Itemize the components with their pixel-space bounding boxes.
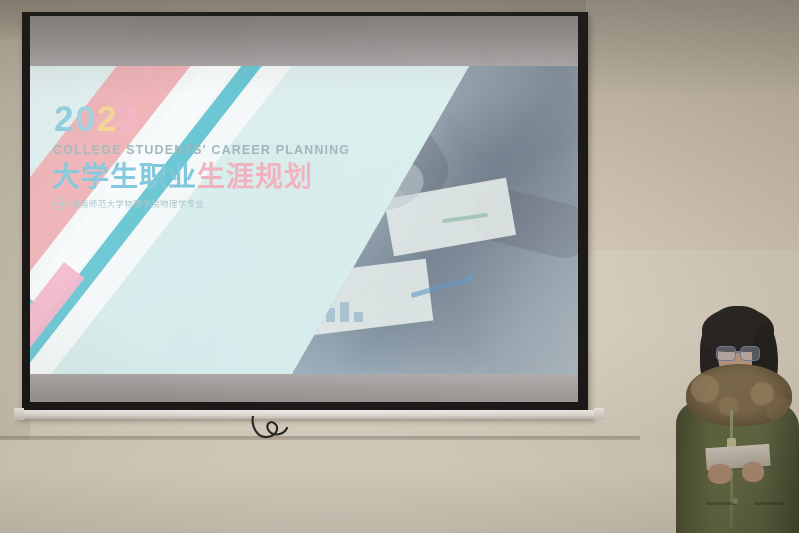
slide-organization-name: 河南师范大学物理学院物理学专业 xyxy=(71,198,205,210)
presenter-hand-right xyxy=(742,462,764,482)
presenter-coat-button xyxy=(732,498,738,504)
presenter-fur-hood xyxy=(686,364,792,426)
projection-letterbox-bottom xyxy=(30,374,578,402)
wall-shadow-upper-right xyxy=(586,0,799,250)
slide-year-digit: 0 xyxy=(75,102,96,137)
hanging-power-cable xyxy=(247,416,293,442)
presenter-coat-pocket-right xyxy=(754,502,784,505)
screen-rail-end-cap-right xyxy=(594,408,604,420)
presenter-fur-texture xyxy=(686,364,792,426)
presenter-hand-left xyxy=(708,464,732,484)
slide-subtitle-english: COLLEGE STUDENTS' CAREER PLANNING xyxy=(53,143,382,157)
presentation-slide: 2023 COLLEGE STUDENTS' CAREER PLANNING 大… xyxy=(30,66,578,374)
lecture-room-scene: 2023 COLLEGE STUDENTS' CAREER PLANNING 大… xyxy=(0,0,799,533)
projector-screen-assembly: 2023 COLLEGE STUDENTS' CAREER PLANNING 大… xyxy=(22,12,592,432)
slide-title-chinese: 大学生职业生涯规划 xyxy=(52,162,382,191)
slide-title-chinese-part1: 大学生职业 xyxy=(52,161,197,192)
university-emblem-icon xyxy=(54,197,67,210)
slide-year: 2023 xyxy=(54,102,382,137)
slide-year-digit: 3 xyxy=(118,102,139,137)
glasses-lens-left xyxy=(716,346,736,361)
presenter-standing xyxy=(672,306,799,533)
glasses-lens-right xyxy=(740,346,760,361)
projector-screen-surface: 2023 COLLEGE STUDENTS' CAREER PLANNING 大… xyxy=(30,16,578,402)
projector-screen-bottom-rail xyxy=(18,410,596,419)
screen-rail-end-cap-left xyxy=(14,408,24,420)
presenter-glasses xyxy=(716,346,764,359)
slide-title-chinese-part2: 生涯规划 xyxy=(197,161,313,192)
slide-title-block: 2023 COLLEGE STUDENTS' CAREER PLANNING 大… xyxy=(52,102,382,210)
projector-screen-frame: 2023 COLLEGE STUDENTS' CAREER PLANNING 大… xyxy=(22,12,588,414)
slide-organization-row: 河南师范大学物理学院物理学专业 xyxy=(54,197,382,210)
projection-letterbox-top xyxy=(30,16,578,66)
slide-year-digit: 2 xyxy=(54,102,75,137)
slide-year-digit: 2 xyxy=(97,102,118,137)
